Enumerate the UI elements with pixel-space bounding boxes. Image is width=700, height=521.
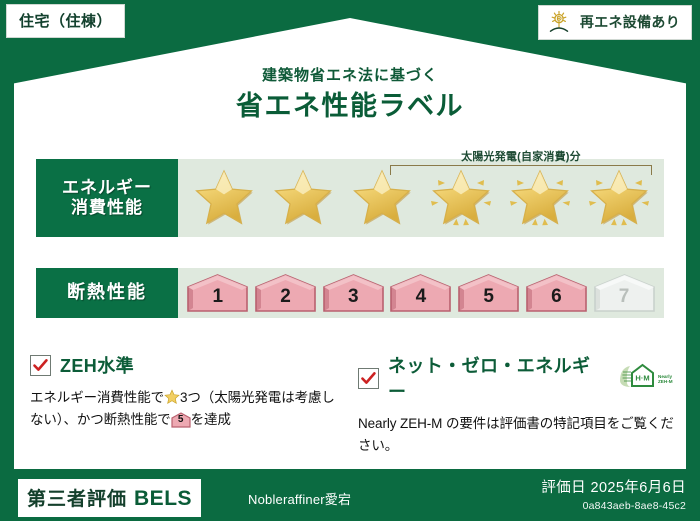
svg-text:ZEH-M: ZEH-M — [658, 379, 673, 384]
insulation-performance-row: 断熱性能 1 2 3 4 5 — [36, 268, 664, 318]
label-footer: 第三者評価 BELS Nobleraffiner愛宕 評価日 2025年6月6日… — [0, 469, 700, 521]
zeh-description: エネルギー消費性能で 3つ（太陽光発電は考慮しない）、かつ断熱性能で 5 を達成 — [30, 387, 342, 431]
grade-value: 1 — [213, 286, 224, 313]
solar-sun-icon — [548, 10, 574, 34]
zeh-checkbox-icon — [30, 355, 51, 376]
grade-value: 2 — [280, 286, 291, 313]
star-filled — [193, 167, 255, 229]
zeh-m-logo-icon: H·M Nearly ZEH-M — [618, 362, 676, 395]
zeh-heading-row: ZEH水準 — [30, 352, 342, 378]
evaluation-id: 0a843aeb-8ae8-45c2 — [541, 500, 686, 512]
grade-value: 6 — [551, 286, 562, 313]
insulation-grade-active: 1 — [186, 273, 249, 313]
inline-grade-value: 5 — [171, 412, 191, 428]
evaluation-info: 評価日 2025年6月6日 0a843aeb-8ae8-45c2 — [541, 476, 686, 512]
grade-value: 5 — [483, 286, 494, 313]
label-subtitle: 建築物省エネ法に基づく — [0, 64, 700, 85]
star-solar — [509, 167, 571, 229]
zeh-text-post: を達成 — [191, 412, 231, 427]
grade-value: 7 — [619, 286, 630, 313]
house-type-tag: 住宅（住棟） — [6, 4, 125, 38]
solar-bracket — [390, 165, 652, 175]
star-solar — [430, 167, 492, 229]
star-filled — [272, 167, 334, 229]
renewable-equipment-badge: 再エネ設備あり — [538, 5, 692, 40]
grade-value: 3 — [348, 286, 359, 313]
building-name: Nobleraffiner愛宕 — [248, 489, 351, 508]
inline-star-icon — [164, 389, 180, 405]
netzero-description: Nearly ZEH-M の要件は評価書の特記項目をご覧ください。 — [358, 413, 676, 457]
insulation-grades-container: 1 2 3 4 5 6 — [178, 268, 664, 318]
zeh-text-pre: エネルギー消費性能で — [30, 390, 164, 405]
label-title: 省エネ性能ラベル — [0, 84, 700, 123]
bels-badge: 第三者評価 BELS — [18, 479, 201, 517]
solar-annotation-label: 太陽光発電(自家消費)分 — [390, 148, 652, 164]
svg-text:H·M: H·M — [635, 373, 649, 382]
star-filled — [351, 167, 413, 229]
energy-performance-label-box: エネルギー 消費性能 — [36, 159, 178, 237]
insulation-grade-inactive: 7 — [593, 273, 656, 313]
bels-en-label: BELS — [134, 487, 192, 511]
energy-label-line1: エネルギー — [62, 178, 152, 198]
bels-jp-label: 第三者評価 — [27, 484, 127, 511]
inline-grade-badge: 5 — [171, 412, 191, 428]
netzero-heading: ネット・ゼロ・エネルギー — [388, 352, 605, 404]
solar-generation-annotation: 太陽光発電(自家消費)分 — [390, 148, 652, 175]
energy-label-line2: 消費性能 — [71, 198, 143, 218]
energy-performance-label: 住宅（住棟） 再エネ設備あり 建築物省エネ法に基づ — [0, 0, 700, 521]
insulation-grade-active: 5 — [457, 273, 520, 313]
zeh-standard-block: ZEH水準 エネルギー消費性能で 3つ（太陽光発電は考慮しない）、かつ断熱性能で… — [30, 352, 342, 431]
insulation-grade-active: 2 — [254, 273, 317, 313]
star-solar — [588, 167, 650, 229]
insulation-label: 断熱性能 — [67, 282, 147, 303]
insulation-performance-label-box: 断熱性能 — [36, 268, 178, 318]
netzero-heading-row: ネット・ゼロ・エネルギー H·M Nearly ZEH-M — [358, 352, 676, 404]
insulation-grade-active: 4 — [389, 273, 452, 313]
grade-value: 4 — [416, 286, 427, 313]
insulation-grade-active: 6 — [525, 273, 588, 313]
zeh-heading: ZEH水準 — [60, 352, 134, 378]
renewable-badge-label: 再エネ設備あり — [580, 12, 680, 32]
net-zero-energy-block: ネット・ゼロ・エネルギー H·M Nearly ZEH-M Nea — [358, 352, 676, 457]
evaluation-date: 評価日 2025年6月6日 — [541, 476, 686, 497]
netzero-checkbox-icon — [358, 368, 379, 389]
insulation-grade-active: 3 — [322, 273, 385, 313]
